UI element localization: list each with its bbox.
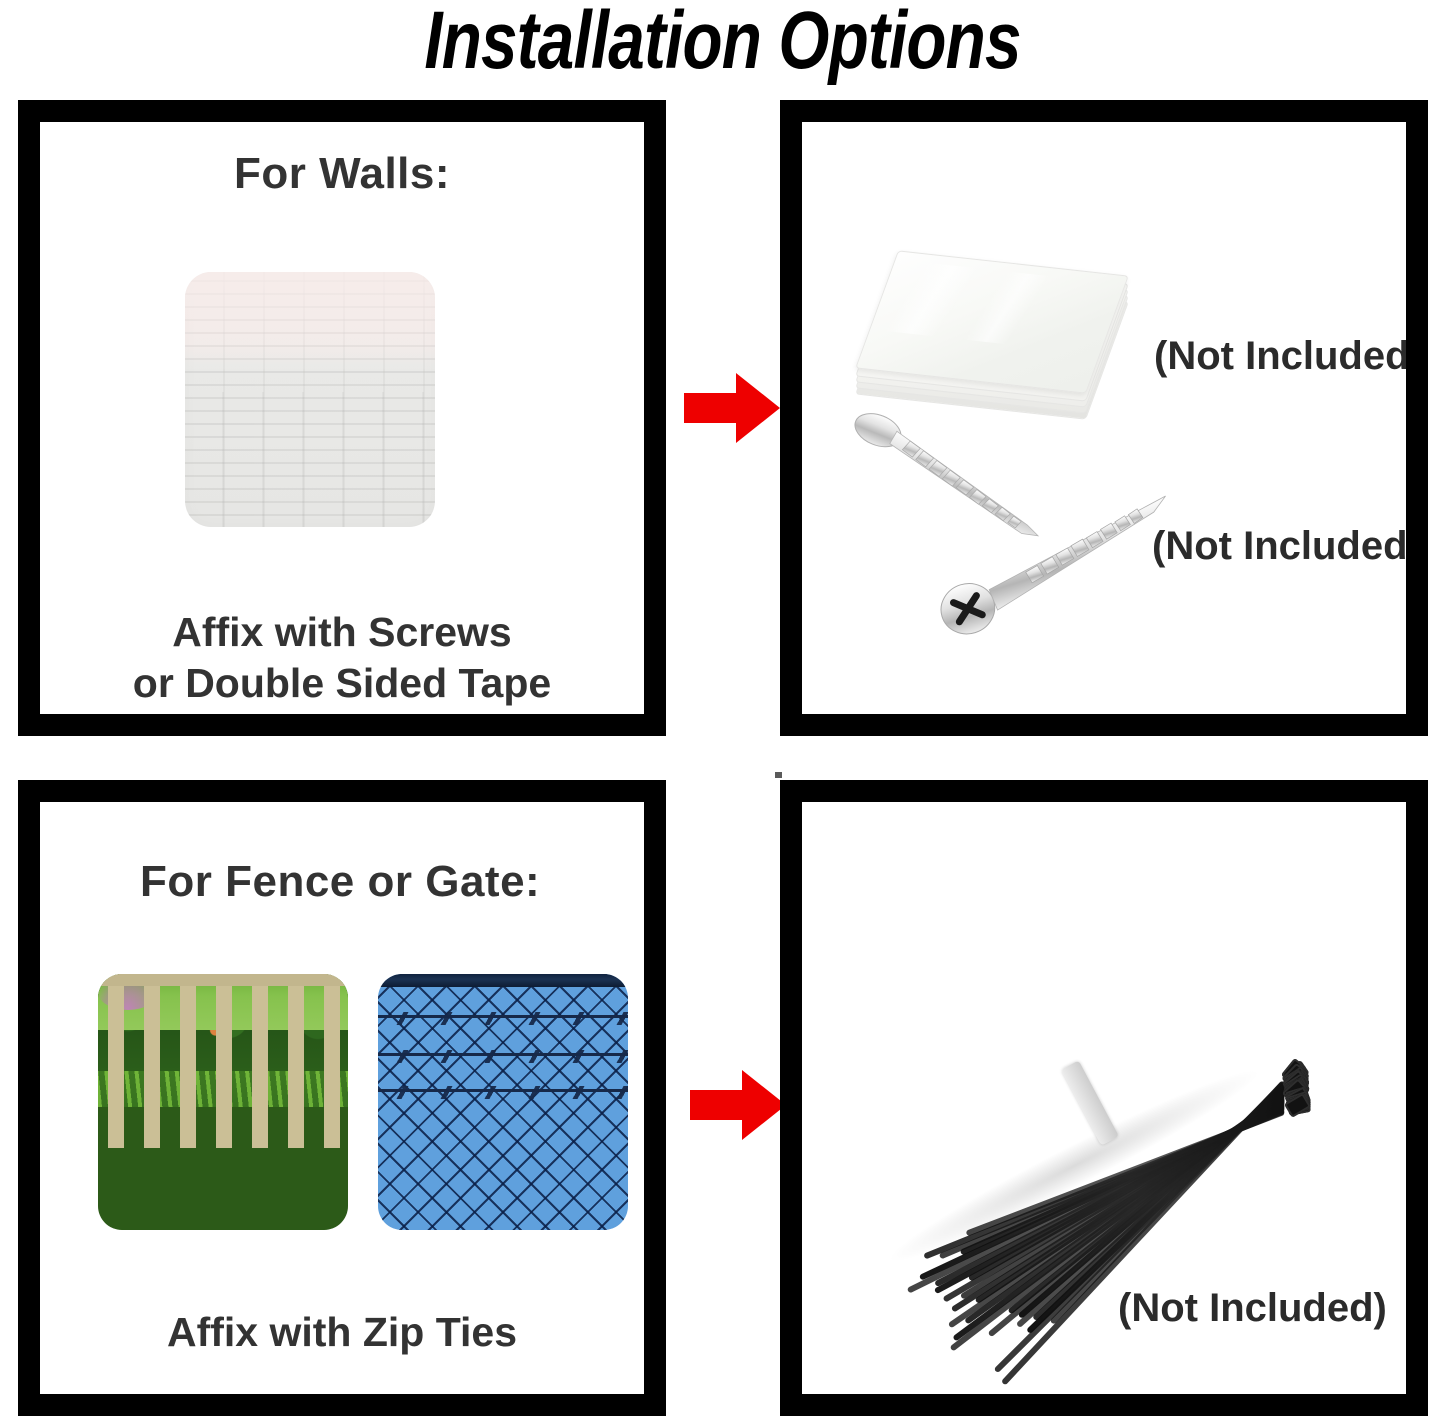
arrow-right-icon xyxy=(690,1068,786,1142)
tape-not-included-label: (Not Included) xyxy=(1154,334,1406,379)
walls-caption-line2: or Double Sided Tape xyxy=(40,658,644,709)
zipties-not-included-label: (Not Included) xyxy=(1118,1286,1387,1331)
fence-heading: For Fence or Gate: xyxy=(40,857,644,907)
chain-link-fence-image xyxy=(378,974,628,1230)
panel-wall-hardware: (Not Included) xyxy=(780,100,1428,736)
panel-zip-ties: (Not Included) xyxy=(780,780,1428,1416)
screws-not-included-label: (Not Included) xyxy=(1152,524,1406,569)
panel-for-walls: For Walls: Affix with Screws or Double S… xyxy=(18,100,666,736)
arrow-right-icon xyxy=(684,371,780,445)
zip-ties-bundle-image xyxy=(844,932,1334,1292)
walls-caption-line1: Affix with Screws xyxy=(40,607,644,658)
fence-caption: Affix with Zip Ties xyxy=(40,1307,644,1358)
white-brick-wall-image xyxy=(185,272,435,527)
wooden-picket-fence-image xyxy=(98,974,348,1230)
walls-heading: For Walls: xyxy=(40,149,644,199)
image-artifact-speck xyxy=(775,772,782,778)
page-title: Installation Options xyxy=(145,0,1301,88)
walls-caption: Affix with Screws or Double Sided Tape xyxy=(40,607,644,710)
double-sided-tape-stack-image xyxy=(872,247,1134,407)
panel-for-fence-or-gate: For Fence or Gate: Affix with Zip Ties xyxy=(18,780,666,1416)
